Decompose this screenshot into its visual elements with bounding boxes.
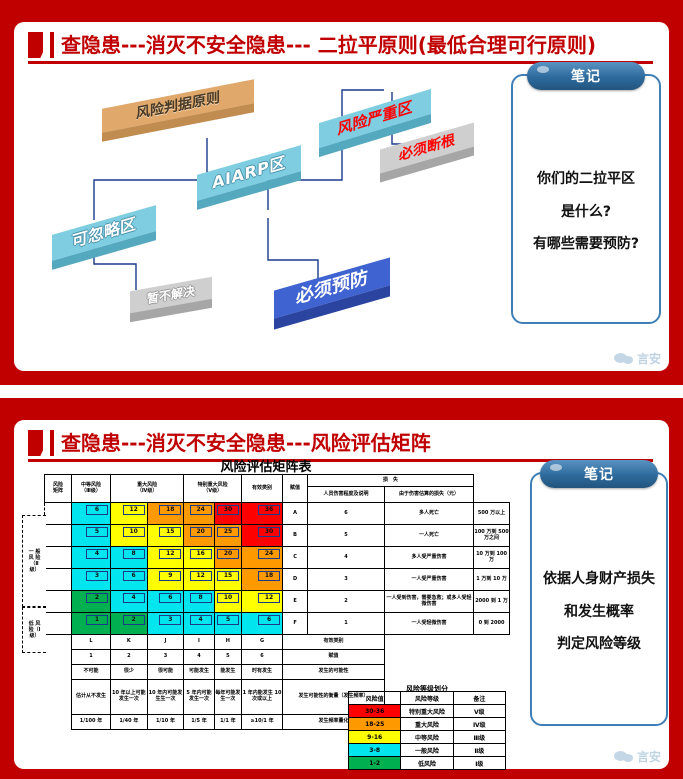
matrix-cell-F1: 2 xyxy=(111,613,148,635)
matrix-row-code: E xyxy=(283,591,308,613)
title-divider xyxy=(50,32,54,58)
matrix-cell-value: 10 xyxy=(217,593,239,603)
matrix-row-value: 5 xyxy=(308,525,385,547)
matrix-cell-C0: 4 xyxy=(72,547,111,569)
notes-line: 判定风险等级 xyxy=(557,636,641,653)
matrix-row-code: B xyxy=(283,525,308,547)
matrix-row-money: 0 到 2000 xyxy=(474,613,510,635)
matrix-cell-F0: 1 xyxy=(72,613,111,635)
matrix-cell-value: 18 xyxy=(159,505,181,515)
matrix-row: 61218243036A6多人死亡500 万以上 xyxy=(45,503,510,525)
matrix-row-money: 10 万到 100 万 xyxy=(474,547,510,569)
matrix-cell-value: 12 xyxy=(123,505,145,515)
matrix-row-value: 3 xyxy=(308,569,385,591)
matrix-row-spacer xyxy=(45,613,72,635)
matrix-row-spacer xyxy=(45,547,72,569)
title-divider xyxy=(50,430,54,456)
flag-icon xyxy=(28,430,43,456)
matrix-row: 123456F1一人受轻微伤害0 到 2000 xyxy=(45,613,510,635)
legend-header-cell: 备注 xyxy=(453,692,505,705)
notes-line: 你们的二拉平区 xyxy=(537,171,635,188)
matrix-side-label-1: 低 风险（Ⅰ级） xyxy=(22,607,46,653)
matrix-bottom-likelihood-cell: 时有发生 xyxy=(242,665,283,680)
matrix-cell-E5: 12 xyxy=(242,591,283,613)
matrix-cell-value: 5 xyxy=(217,615,239,625)
notes-card-1: 笔记 你们的二拉平区 是什么? 有哪些需要预防? xyxy=(511,74,661,324)
watermark-2: 言安 xyxy=(614,748,661,765)
notes-line: 依据人身财产损失 xyxy=(543,571,655,588)
matrix-band-header-2: 特别重大风险（Ⅴ级） xyxy=(184,475,242,503)
matrix-cell-value: 4 xyxy=(86,549,108,559)
matrix-bottom-measure-cell: 10 年内可能发生生一次 xyxy=(147,680,184,715)
matrix-row-code: C xyxy=(283,547,308,569)
matrix-cell-value: 5 xyxy=(86,527,108,537)
matrix-cell-B1: 10 xyxy=(111,525,148,547)
matrix-cell-A3: 24 xyxy=(184,503,214,525)
legend-row: 3-8一般风险Ⅱ级 xyxy=(349,744,506,757)
matrix-bottom-likelihood-cell: 很可能 xyxy=(147,665,184,680)
slide-1-body: 查隐患---消灭不安全隐患--- 二拉平原则(最低合理可行原则) xyxy=(14,22,669,371)
matrix-bottom-measure-cell: 估计从不发生 xyxy=(72,680,111,715)
matrix-loss-people-header: 人员伤害程度及说明 xyxy=(308,487,385,503)
matrix-cell-C5: 24 xyxy=(242,547,283,569)
matrix-bottom-values-cell: 2 xyxy=(111,650,148,665)
risk-criteria-diagram: 风险判据原则 风险严重区 必须断根 xyxy=(32,68,494,326)
matrix-cell-value: 12 xyxy=(190,571,212,581)
legend-level: 低风险 xyxy=(401,757,453,770)
matrix-cell-E3: 8 xyxy=(184,591,214,613)
legend-range: 1-2 xyxy=(349,757,401,770)
matrix-bottom-codes-cell: G xyxy=(242,635,283,650)
pill-highlight xyxy=(550,464,562,471)
matrix-bottom-codes-cell: J xyxy=(147,635,184,650)
matrix-cell-value: 36 xyxy=(258,505,280,515)
matrix-bottom-values-cell: 6 xyxy=(242,650,283,665)
legend-level: 一般风险 xyxy=(401,744,453,757)
matrix-bottom-values-cell: 1 xyxy=(72,650,111,665)
matrix-cell-value: 12 xyxy=(159,549,181,559)
matrix-cell-value: 9 xyxy=(159,571,181,581)
watermark-text: 言安 xyxy=(637,748,661,765)
matrix-bottom-frequency-cell: 1/1 年 xyxy=(214,715,241,730)
matrix-cell-value: 3 xyxy=(159,615,181,625)
matrix-value-header: 赋值 xyxy=(283,475,308,503)
matrix-bottom-likelihood-cell: 很少 xyxy=(111,665,148,680)
matrix-row-value: 2 xyxy=(308,591,385,613)
matrix-cell-value: 30 xyxy=(217,505,239,515)
matrix-cell-value: 30 xyxy=(258,527,280,537)
matrix-bottom-values: 123456赋值 xyxy=(45,650,510,665)
notes-header-pill: 笔记 xyxy=(540,460,658,488)
legend-row: 30-36特别重大风险Ⅴ级 xyxy=(349,705,506,718)
matrix-bottom-likelihood-cell: 可能发生 xyxy=(184,665,214,680)
matrix-cell-value: 6 xyxy=(159,593,181,603)
matrix-row-code: A xyxy=(283,503,308,525)
matrix-bottom-frequency-cell: 1/5 年 xyxy=(184,715,214,730)
matrix-row-people: 多人死亡 xyxy=(385,503,474,525)
matrix-cell-value: 8 xyxy=(190,593,212,603)
legend-level: 特别重大风险 xyxy=(401,705,453,718)
matrix-cell-E0: 2 xyxy=(72,591,111,613)
legend-note: Ⅴ级 xyxy=(453,705,505,718)
matrix-cell-F5: 6 xyxy=(242,613,283,635)
slide-1: 查隐患---消灭不安全隐患--- 二拉平原则(最低合理可行原则) xyxy=(0,0,683,385)
matrix-row: 51015202530B5一人死亡100 万到 500 万之间 xyxy=(45,525,510,547)
watermark-text: 言安 xyxy=(637,350,661,367)
matrix-cell-A0: 6 xyxy=(72,503,111,525)
slide-1-title: 查隐患---消灭不安全隐患--- 二拉平原则(最低合理可行原则) xyxy=(61,35,596,55)
matrix-cell-E4: 10 xyxy=(214,591,241,613)
matrix-band-header-1: 重大风险（Ⅳ级） xyxy=(111,475,184,503)
matrix-bottom-values-cell: 3 xyxy=(147,650,184,665)
matrix-row-people: 一人死亡 xyxy=(385,525,474,547)
notes-header-label: 笔记 xyxy=(584,464,614,484)
matrix-cell-B3: 20 xyxy=(184,525,214,547)
matrix-loss-money-header: 由于伤害估算的损失（元） xyxy=(385,487,474,503)
notes-header-pill: 笔记 xyxy=(527,62,645,90)
matrix-cell-C4: 20 xyxy=(214,547,241,569)
matrix-cell-value: 6 xyxy=(86,505,108,515)
legend-note: Ⅱ级 xyxy=(453,744,505,757)
matrix-cell-value: 3 xyxy=(86,571,108,581)
matrix-cell-value: 12 xyxy=(258,593,280,603)
matrix-header-row: 风险矩阵中等风险（Ⅲ级）重大风险（Ⅳ级）特别重大风险（Ⅴ级）有效类别赋值损 失 xyxy=(45,475,510,487)
pill-highlight xyxy=(537,66,549,73)
legend-header-row: 风险值风险等级备注 xyxy=(349,692,506,705)
matrix-bottom-measure-cell: 5 年内可能发生一次 xyxy=(184,680,214,715)
matrix-cell-value: 2 xyxy=(86,593,108,603)
matrix-bottom-codes: LKJIHG有效类别 xyxy=(45,635,510,650)
matrix-row-people: 一人受严重伤害 xyxy=(385,569,474,591)
matrix-row-people: 多人受严重伤害 xyxy=(385,547,474,569)
matrix-cell-A5: 36 xyxy=(242,503,283,525)
matrix-cell-C1: 8 xyxy=(111,547,148,569)
matrix-cell-value: 24 xyxy=(190,505,212,515)
matrix-cell-A1: 12 xyxy=(111,503,148,525)
matrix-cell-B5: 30 xyxy=(242,525,283,547)
matrix-cell-value: 24 xyxy=(258,549,280,559)
notes-line: 和发生概率 xyxy=(564,604,634,621)
flag-icon xyxy=(28,32,43,58)
matrix-cell-E1: 4 xyxy=(111,591,148,613)
legend-range: 9-16 xyxy=(349,731,401,744)
notes-header-label: 笔记 xyxy=(571,66,601,86)
matrix-cell-A4: 30 xyxy=(214,503,241,525)
matrix-row-people: 一人受到伤害，需要急救；或多人受轻微伤害 xyxy=(385,591,474,613)
matrix-row-spacer xyxy=(45,503,72,525)
slide-2-body: 查隐患---消灭不安全隐患---风险评估矩阵 风险评估矩阵表 风险矩阵中等风险（… xyxy=(14,420,669,769)
matrix-cell-value: 25 xyxy=(217,527,239,537)
matrix-bottom-codes-cell: H xyxy=(214,635,241,650)
matrix-row-money: 100 万到 500 万之间 xyxy=(474,525,510,547)
matrix-cell-value: 10 xyxy=(123,527,145,537)
matrix-cell-D0: 3 xyxy=(72,569,111,591)
legend-row: 18-25重大风险Ⅳ级 xyxy=(349,718,506,731)
legend-row: 1-2低风险Ⅰ级 xyxy=(349,757,506,770)
matrix-bottom-codes-label: 有效类别 xyxy=(283,635,385,650)
matrix-row-value: 6 xyxy=(308,503,385,525)
slide-deck-page: 查隐患---消灭不安全隐患--- 二拉平原则(最低合理可行原则) xyxy=(0,0,683,779)
matrix-cell-F4: 5 xyxy=(214,613,241,635)
matrix-table-title: 风险评估矩阵表 xyxy=(22,456,510,475)
matrix-bottom-measure-cell: 每年可能发生一次 xyxy=(214,680,241,715)
risk-matrix-section: 风险评估矩阵表 风险矩阵中等风险（Ⅲ级）重大风险（Ⅳ级）特别重大风险（Ⅴ级）有效… xyxy=(22,458,510,776)
legend-level: 中等风险 xyxy=(401,731,453,744)
legend-header-cell: 风险等级 xyxy=(401,692,453,705)
matrix-cell-E2: 6 xyxy=(147,591,184,613)
matrix-cell-D2: 9 xyxy=(147,569,184,591)
notes-body-2: 依据人身财产损失 和发生概率 判定风险等级 xyxy=(538,508,660,716)
legend-range: 3-8 xyxy=(349,744,401,757)
matrix-bottom-likelihood-label: 发生的可能性 xyxy=(283,665,385,680)
matrix-row-code: F xyxy=(283,613,308,635)
matrix-cell-value: 18 xyxy=(258,571,280,581)
matrix-cell-B2: 15 xyxy=(147,525,184,547)
risk-level-legend-table: 风险值风险等级备注30-36特别重大风险Ⅴ级18-25重大风险Ⅳ级9-16中等风… xyxy=(348,691,506,770)
notes-line: 是什么? xyxy=(561,204,611,221)
matrix-bottom-values-cell: 4 xyxy=(184,650,214,665)
matrix-cell-value: 1 xyxy=(86,615,108,625)
matrix-bottom-values-label: 赋值 xyxy=(283,650,385,665)
legend-note: Ⅳ级 xyxy=(453,718,505,731)
matrix-row: 24681012E2一人受到伤害，需要急救；或多人受轻微伤害2000 到 1 万 xyxy=(45,591,510,613)
matrix-cell-value: 20 xyxy=(190,527,212,537)
legend-range: 18-25 xyxy=(349,718,401,731)
matrix-bottom-measure-cell: 10 年以上可能发生一次 xyxy=(111,680,148,715)
notes-body-1: 你们的二拉平区 是什么? 有哪些需要预防? xyxy=(519,110,653,314)
matrix-cell-value: 15 xyxy=(159,527,181,537)
matrix-cell-value: 15 xyxy=(217,571,239,581)
matrix-cell-D1: 6 xyxy=(111,569,148,591)
matrix-cell-value: 6 xyxy=(258,615,280,625)
legend-range: 30-36 xyxy=(349,705,401,718)
slide-2: 查隐患---消灭不安全隐患---风险评估矩阵 风险评估矩阵表 风险矩阵中等风险（… xyxy=(0,398,683,779)
matrix-cell-A2: 18 xyxy=(147,503,184,525)
matrix-cell-value: 4 xyxy=(190,615,212,625)
matrix-bottom-likelihood-cell: 能发生 xyxy=(214,665,241,680)
matrix-bottom-codes-cell: K xyxy=(111,635,148,650)
matrix-bottom-values-cell: 5 xyxy=(214,650,241,665)
matrix-corner-header: 风险矩阵 xyxy=(45,475,72,503)
matrix-row: 4812162024C4多人受严重伤害10 万到 100 万 xyxy=(45,547,510,569)
matrix-cell-value: 16 xyxy=(190,549,212,559)
matrix-row-value: 1 xyxy=(308,613,385,635)
matrix-cell-D4: 15 xyxy=(214,569,241,591)
legend-note: Ⅲ级 xyxy=(453,731,505,744)
matrix-band-header-0: 中等风险（Ⅲ级） xyxy=(72,475,111,503)
matrix-cell-F3: 4 xyxy=(184,613,214,635)
matrix-bottom-frequency-cell: 1/100 年 xyxy=(72,715,111,730)
legend-note: Ⅰ级 xyxy=(453,757,505,770)
notes-line: 有哪些需要预防? xyxy=(533,236,639,253)
legend-row: 9-16中等风险Ⅲ级 xyxy=(349,731,506,744)
matrix-row-money: 500 万以上 xyxy=(474,503,510,525)
matrix-category-header: 有效类别 xyxy=(242,475,283,503)
matrix-bottom-frequency-cell: 1/40 年 xyxy=(111,715,148,730)
matrix-cell-D5: 18 xyxy=(242,569,283,591)
legend-level: 重大风险 xyxy=(401,718,453,731)
matrix-cell-B4: 25 xyxy=(214,525,241,547)
matrix-row-spacer xyxy=(45,591,72,613)
matrix-row-value: 4 xyxy=(308,547,385,569)
matrix-row-spacer xyxy=(45,569,72,591)
matrix-cell-value: 4 xyxy=(123,593,145,603)
watermark-1: 言安 xyxy=(614,350,661,367)
matrix-bottom-measure-cell: 1 年内能发生 10 次或以上 xyxy=(242,680,283,715)
matrix-cell-F2: 3 xyxy=(147,613,184,635)
notes-card-2: 笔记 依据人身财产损失 和发生概率 判定风险等级 xyxy=(530,472,668,726)
matrix-side-label-0: 一 般风 险（Ⅱ级） xyxy=(22,515,46,607)
matrix-bottom-likelihood: 不可能很少很可能可能发生能发生时有发生发生的可能性 xyxy=(45,665,510,680)
wechat-bubbles-icon xyxy=(614,352,634,365)
matrix-cell-B0: 5 xyxy=(72,525,111,547)
matrix-cell-C3: 16 xyxy=(184,547,214,569)
matrix-bottom-codes-cell: I xyxy=(184,635,214,650)
matrix-bottom-frequency-cell: 1/10 年 xyxy=(147,715,184,730)
matrix-cell-value: 2 xyxy=(123,615,145,625)
matrix-row-money: 1 万到 10 万 xyxy=(474,569,510,591)
matrix-row: 369121518D3一人受严重伤害1 万到 10 万 xyxy=(45,569,510,591)
matrix-cell-value: 8 xyxy=(123,549,145,559)
matrix-cell-value: 6 xyxy=(123,571,145,581)
matrix-bottom-frequency-cell: ≥10/1 年 xyxy=(242,715,283,730)
matrix-loss-group-header: 损 失 xyxy=(308,475,474,487)
matrix-cell-D3: 12 xyxy=(184,569,214,591)
legend-header-cell: 风险值 xyxy=(349,692,401,705)
matrix-row-money: 2000 到 1 万 xyxy=(474,591,510,613)
slide-1-title-row: 查隐患---消灭不安全隐患--- 二拉平原则(最低合理可行原则) xyxy=(28,32,653,64)
wechat-bubbles-icon xyxy=(614,750,634,763)
matrix-bottom-codes-cell: L xyxy=(72,635,111,650)
matrix-row-spacer xyxy=(45,525,72,547)
matrix-cell-C2: 12 xyxy=(147,547,184,569)
matrix-row-code: D xyxy=(283,569,308,591)
matrix-row-people: 一人受轻微伤害 xyxy=(385,613,474,635)
matrix-cell-value: 20 xyxy=(217,549,239,559)
slide-2-title: 查隐患---消灭不安全隐患---风险评估矩阵 xyxy=(61,433,431,453)
matrix-bottom-likelihood-cell: 不可能 xyxy=(72,665,111,680)
